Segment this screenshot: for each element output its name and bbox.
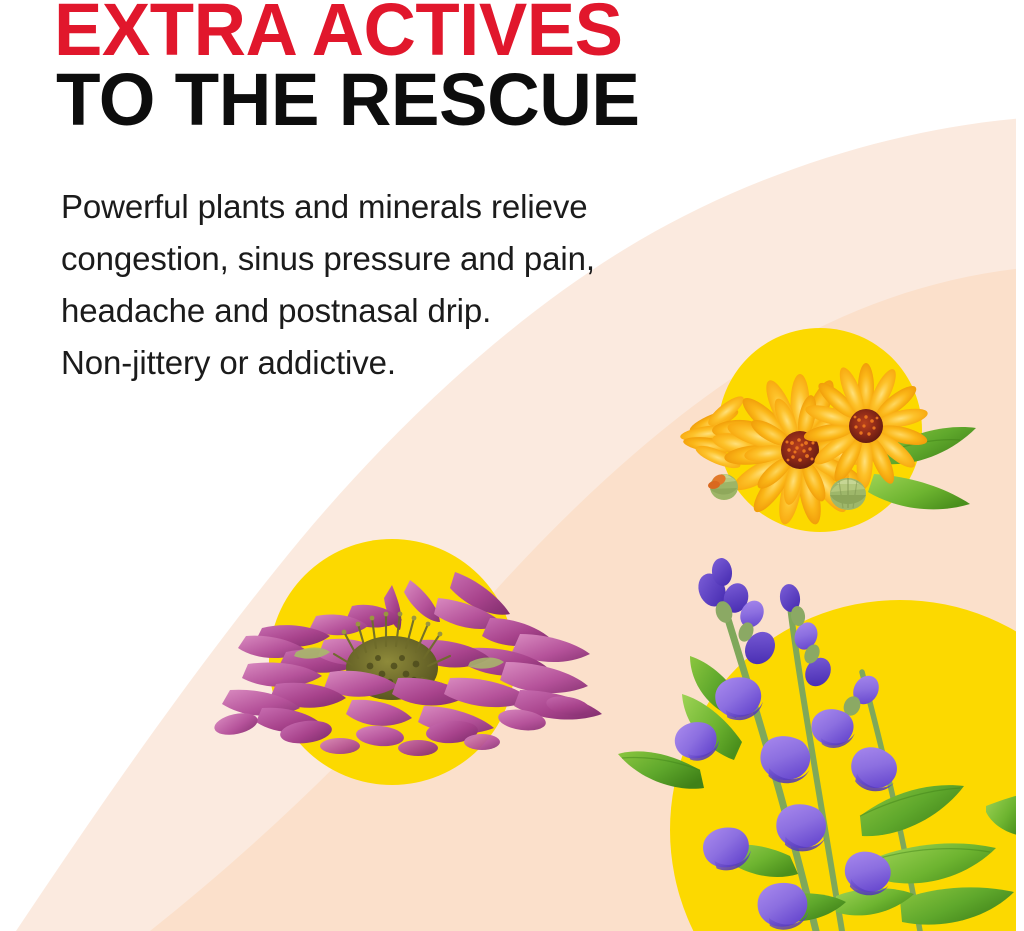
body-copy-line-1: Powerful plants and minerals relieve [61,181,595,233]
poster-canvas: EXTRA ACTIVES TO THE RESCUE Powerful pla… [0,0,1024,931]
body-copy: Powerful plants and minerals relieve con… [61,181,595,389]
headline-line-2: TO THE RESCUE [56,66,640,134]
headline-line-1: EXTRA ACTIVES [54,0,622,64]
body-copy-line-3: headache and postnasal drip. [61,285,595,337]
body-copy-line-4: Non-jittery or addictive. [61,337,595,389]
calendula-bud-right [830,478,866,510]
body-copy-line-2: congestion, sinus pressure and pain, [61,233,595,285]
